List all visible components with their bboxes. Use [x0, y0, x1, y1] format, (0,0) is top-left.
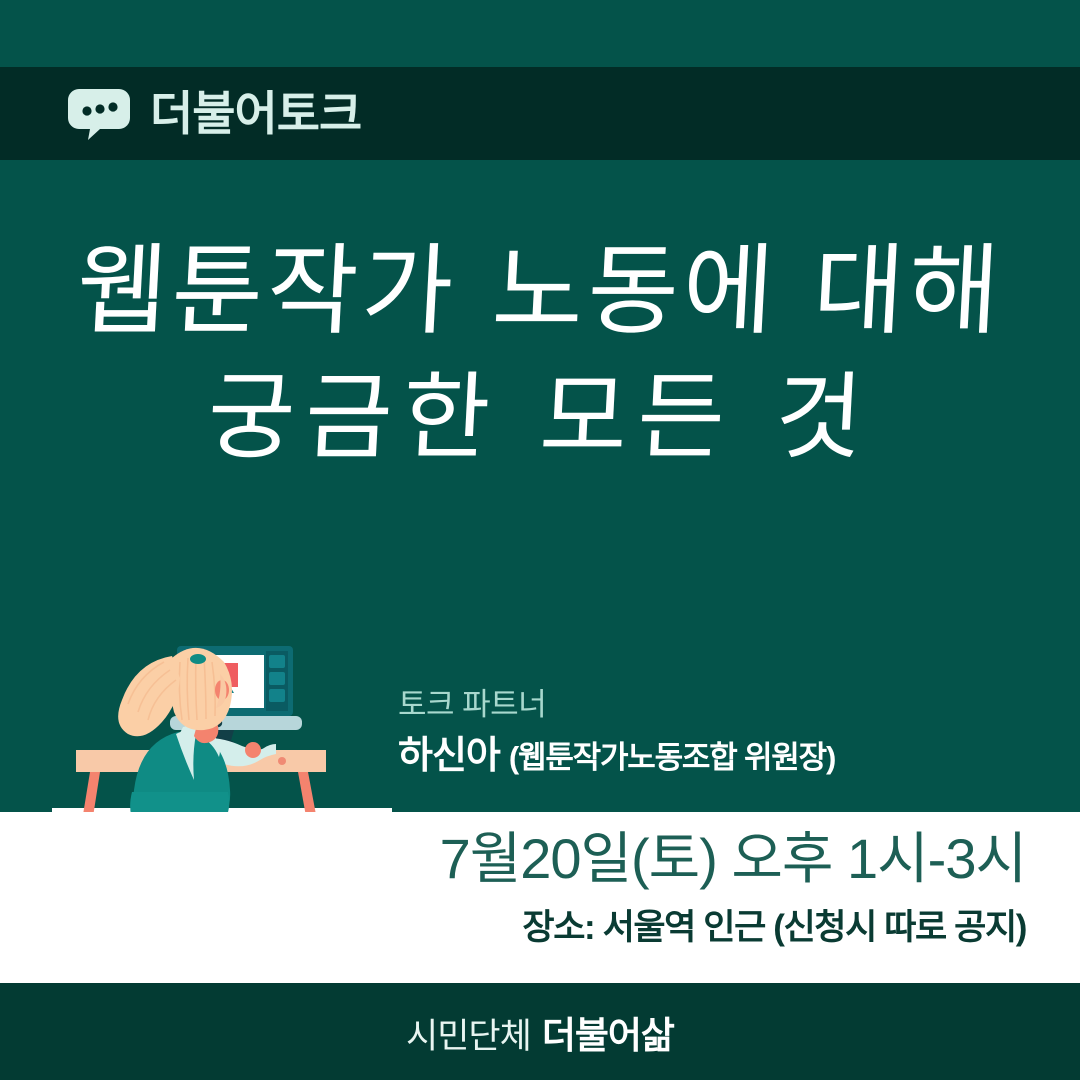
brand-name: 더불어토크	[150, 90, 361, 137]
speech-bubble-icon	[66, 87, 132, 141]
speaker-name-row: 하신아 (웹툰작가노동조합 위원장)	[398, 736, 835, 778]
speaker-label: 토크 파트너	[398, 688, 835, 722]
event-place: 장소: 서울역 인근 (신청시 따로 공지)	[522, 910, 1026, 945]
footer-organization-lockup: 시민단체 더불어삶	[406, 1005, 674, 1059]
title-line-1: 웹툰작가 노동에 대해	[0, 228, 1080, 357]
brand-lockup: 더불어토크	[66, 87, 361, 141]
title-line-2: 궁금한 모든 것	[0, 357, 1080, 481]
speaker-block: 토크 파트너 하신아 (웹툰작가노동조합 위원장)	[398, 688, 835, 778]
event-date-time: 7월20일(토) 오후 1시-3시	[440, 831, 1026, 887]
footer-organization: 더불어삶	[542, 1005, 674, 1059]
event-poster: 더불어토크 웹툰작가 노동에 대해 궁금한 모든 것	[0, 0, 1080, 1080]
speaker-name: 하신아	[398, 736, 500, 778]
poster-title: 웹툰작가 노동에 대해 궁금한 모든 것	[0, 228, 1080, 480]
footer-band: 시민단체 더불어삶	[0, 983, 1080, 1080]
speaker-organization: (웹툰작가노동조합 위원장)	[509, 741, 835, 775]
footer-prefix: 시민단체	[406, 1008, 531, 1059]
header-band: 더불어토크	[0, 67, 1080, 160]
event-details-band: 7월20일(토) 오후 1시-3시 장소: 서울역 인근 (신청시 따로 공지)	[0, 812, 1080, 983]
